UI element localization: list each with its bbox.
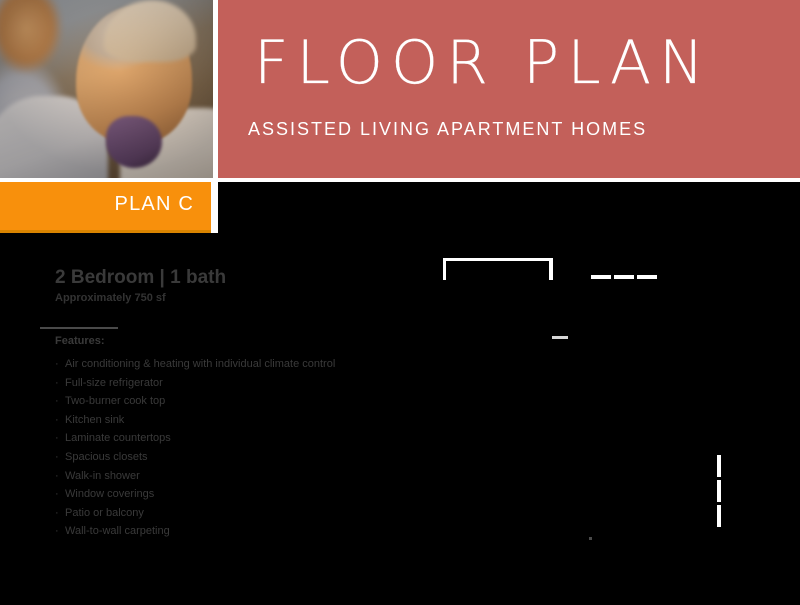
right-window-2 [717,480,721,502]
features-heading: Features: [55,335,105,347]
plan-badge-bar: PLAN C [0,182,211,230]
top-wall-right-stub [549,258,553,280]
window-segment-2 [614,275,634,279]
right-window-3 [717,505,721,527]
unit-type-title: 2 Bedroom | 1 bath [55,267,226,289]
photo-color-overlay [0,0,213,178]
feature-item: Wall-to-wall carpeting [55,522,335,541]
unit-size-text: Approximately 750 sf [55,292,166,304]
feature-item: Kitchen sink [55,411,335,430]
interior-stub [552,336,568,339]
feature-item: Walk-in shower [55,467,335,486]
feature-item: Window coverings [55,485,335,504]
feature-item: Spacious closets [55,448,335,467]
window-segment-3 [637,275,657,279]
header-band: FLOOR PLAN ASSISTED LIVING APARTMENT HOM… [218,0,800,178]
window-segment-1 [591,275,611,279]
feature-item: Two-burner cook top [55,392,335,411]
feature-item: Full-size refrigerator [55,374,335,393]
plan-badge-label: PLAN C [115,193,194,216]
feature-item: Patio or balcony [55,504,335,523]
divider-rule [40,327,118,329]
top-wall-left-stub [443,258,446,280]
unit-info-panel: 2 Bedroom | 1 bath Approximately 750 sf … [0,233,218,605]
two-smiling-men-photo [0,0,213,178]
page-subtitle: ASSISTED LIVING APARTMENT HOMES [248,119,647,140]
page-title: FLOOR PLAN [254,33,712,93]
features-list: Air conditioning & heating with individu… [55,355,335,541]
plan-dot-marker [589,537,592,540]
right-window-1 [717,455,721,477]
top-wall-horizontal [443,258,553,261]
floor-plan-page: FLOOR PLAN ASSISTED LIVING APARTMENT HOM… [0,0,800,605]
feature-item: Laminate countertops [55,429,335,448]
feature-item: Air conditioning & heating with individu… [55,355,335,374]
